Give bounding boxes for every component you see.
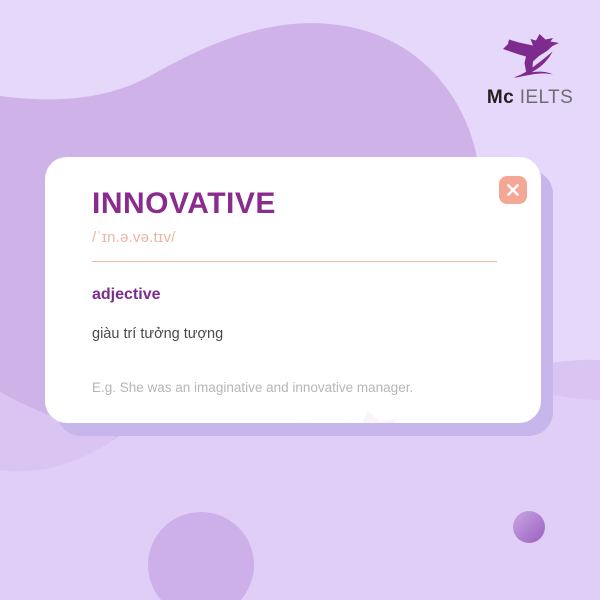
mc-ielts-logo: Mc IELTS — [484, 26, 576, 116]
logo-wordmark: Mc IELTS — [484, 88, 576, 107]
close-button[interactable] — [499, 176, 527, 204]
part-of-speech-label: adjective — [92, 287, 160, 303]
word-phonetic: /ˈɪn.ə.və.tɪv/ — [92, 230, 176, 245]
logo-brand-secondary: IELTS — [520, 87, 573, 108]
accent-dot — [513, 511, 545, 543]
vocabulary-flashcard-screen: Mc IELTS INNOVATIVE /ˈɪn.ə.və.tɪv/ adjec… — [0, 0, 600, 600]
divider — [92, 261, 497, 262]
word-meaning: giàu trí tưởng tượng — [92, 327, 223, 342]
page-title: INNOVATIVE — [92, 189, 276, 219]
logo-brand-primary: Mc — [487, 87, 514, 108]
vocabulary-card: INNOVATIVE /ˈɪn.ə.və.tɪv/ adjective giàu… — [45, 157, 541, 423]
origami-hummingbird-watermark-icon — [273, 395, 423, 423]
origami-hummingbird-icon — [495, 26, 565, 84]
word-example-sentence: E.g. She was an imaginative and innovati… — [92, 381, 413, 395]
close-icon — [506, 183, 520, 197]
